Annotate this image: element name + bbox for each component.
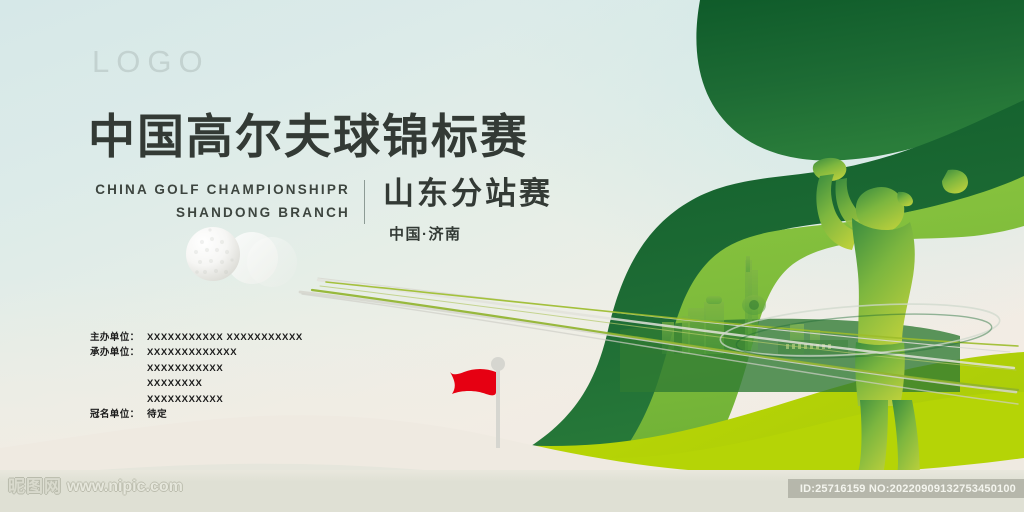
sponsor-list: 主办单位： XXXXXXXXXXX XXXXXXXXXXX 承办单位： XXXX…	[90, 330, 303, 422]
subtitle-chinese-group: 山东分站赛 中国·济南	[383, 178, 553, 244]
sponsor-row-title-sponsor: 冠名单位： 待定	[90, 407, 303, 422]
poster-canvas: LOGO 中国高尔夫球锦标赛 CHINA GOLF CHAMPIONSHIPR …	[0, 0, 1024, 512]
subtitle-row: CHINA GOLF CHAMPIONSHIPR SHANDONG BRANCH…	[88, 178, 553, 244]
flag-pole	[496, 368, 500, 448]
watermark-bar: 昵图网 www.nipic.com ID:25716159 NO:2022090…	[0, 470, 1024, 512]
host-value: XXXXXXXXXXXXX	[147, 345, 237, 360]
subtitle-english-line2: SHANDONG BRANCH	[88, 201, 350, 224]
subtitle-divider	[364, 180, 365, 224]
event-location: 中国·济南	[389, 223, 553, 244]
host-value-2: XXXXXXXXXXX	[90, 361, 303, 376]
subtitle-chinese: 山东分站赛	[383, 178, 553, 211]
host-value-3: XXXXXXXX	[90, 376, 303, 391]
organizer-value: XXXXXXXXXXX XXXXXXXXXXX	[147, 330, 303, 345]
page-title: 中国高尔夫球锦标赛	[88, 112, 529, 163]
organizer-label: 主办单位：	[90, 330, 147, 345]
nipic-url-text: www.nipic.com	[67, 479, 183, 495]
nipic-watermark: 昵图网 www.nipic.com	[8, 478, 183, 495]
host-value-4: XXXXXXXXXXX	[90, 392, 303, 407]
flag-cloth	[450, 369, 496, 395]
title-sponsor-value: 待定	[147, 407, 167, 422]
sponsor-row-host: 承办单位： XXXXXXXXXXXXX	[90, 345, 303, 360]
sponsor-row-organizer: 主办单位： XXXXXXXXXXX XXXXXXXXXXX	[90, 330, 303, 345]
subtitle-english: CHINA GOLF CHAMPIONSHIPR SHANDONG BRANCH	[88, 178, 350, 224]
subtitle-english-line1: CHINA GOLF CHAMPIONSHIPR	[88, 178, 350, 201]
flag-pole-knob	[491, 357, 505, 371]
logo-placeholder: LOGO	[92, 46, 210, 77]
title-sponsor-label: 冠名单位：	[90, 407, 147, 422]
image-id-badge: ID:25716159 NO:20220909132753450100	[788, 479, 1024, 498]
nipic-logo-text: 昵图网	[8, 478, 62, 495]
host-label: 承办单位：	[90, 345, 147, 360]
